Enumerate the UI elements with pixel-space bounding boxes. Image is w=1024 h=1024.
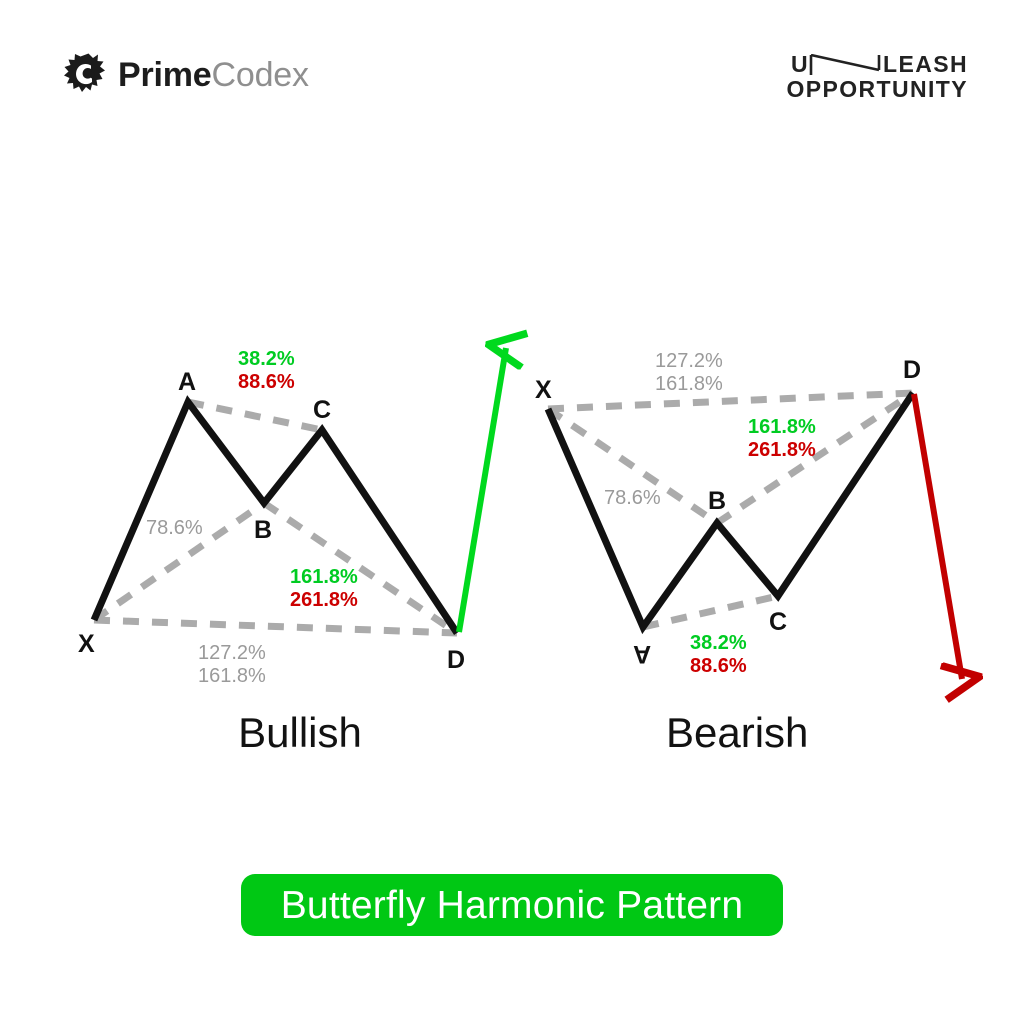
bullish-xd-ratio-value-2: 161.8%: [198, 665, 266, 688]
bullish-bd-ratio: 161.8% 261.8%: [290, 566, 358, 612]
bearish-xd-retracement: [548, 393, 913, 409]
bearish-vertex-label-d: D: [903, 358, 921, 383]
primecodex-logo: PrimeCodex: [62, 52, 309, 98]
bullish-xb-ratio: 78.6%: [146, 517, 203, 540]
stylized-n-stroke-icon: [809, 54, 883, 76]
bearish-vertex-label-x: X: [535, 378, 552, 403]
butterfly-harmonic-pattern-infographic: PrimeCodex U LEASH OPPORTUNITY: [0, 0, 1024, 1024]
bullish-projection-arrow: [459, 348, 506, 632]
bullish-vertex-label-a: A: [178, 370, 196, 395]
bearish-ac-retracement: [643, 596, 778, 627]
bullish-xb-ratio-value: 78.6%: [146, 517, 203, 540]
bullish-xd-retracement: [94, 620, 457, 633]
bearish-ac-ratio-red: 88.6%: [690, 655, 747, 678]
bearish-bd-ratio-green: 161.8%: [748, 416, 816, 439]
bearish-vertex-label-b: B: [708, 489, 726, 514]
bearish-xd-ratio: 127.2% 161.8%: [655, 350, 723, 396]
bearish-vertex-label-c: C: [769, 610, 787, 635]
bullish-caption: Bullish: [234, 712, 366, 754]
bullish-ac-ratio-red: 88.6%: [238, 371, 295, 394]
primecodex-c-mark-icon: [62, 52, 106, 98]
bullish-vertex-label-d: D: [447, 648, 465, 673]
bearish-bd-ratio-red: 261.8%: [748, 439, 816, 462]
bearish-ac-ratio-green: 38.2%: [690, 632, 747, 655]
bearish-projection-arrow: [914, 394, 962, 679]
title-banner: Butterfly Harmonic Pattern: [241, 874, 783, 936]
bearish-xd-ratio-value-2: 161.8%: [655, 373, 723, 396]
bullish-xd-ratio-value-1: 127.2%: [198, 642, 266, 665]
tagline-line-1: U LEASH: [786, 52, 968, 77]
bullish-ac-retracement: [188, 402, 322, 430]
bearish-vertex-label-a: A: [633, 641, 651, 666]
bullish-ac-ratio-green: 38.2%: [238, 348, 295, 371]
tagline-leash: LEASH: [883, 52, 968, 77]
title-banner-text: Butterfly Harmonic Pattern: [281, 886, 744, 925]
harmonic-pattern-diagrams: [0, 0, 1024, 1024]
brand-name-prime: Prime: [118, 56, 212, 94]
tagline-line-2: OPPORTUNITY: [786, 77, 968, 102]
primecodex-wordmark: PrimeCodex: [118, 58, 309, 92]
bearish-bd-ratio: 161.8% 261.8%: [748, 416, 816, 462]
bullish-bd-ratio-green: 161.8%: [290, 566, 358, 589]
bearish-ac-ratio: 38.2% 88.6%: [690, 632, 747, 678]
bullish-vertex-label-x: X: [78, 632, 95, 657]
brand-name-codex: Codex: [212, 56, 309, 94]
bullish-xd-ratio: 127.2% 161.8%: [198, 642, 266, 688]
bullish-ac-ratio: 38.2% 88.6%: [238, 348, 295, 394]
tagline-u: U: [791, 52, 809, 77]
bearish-retracement-lines: [548, 393, 913, 627]
unleash-opportunity-tagline: U LEASH OPPORTUNITY: [786, 52, 968, 102]
bearish-price-structure: [548, 393, 913, 627]
bullish-vertex-label-c: C: [313, 398, 331, 423]
bearish-xb-ratio-value: 78.6%: [604, 487, 661, 510]
bullish-vertex-label-b: B: [254, 518, 272, 543]
bearish-caption: Bearish: [666, 712, 798, 754]
bearish-xd-ratio-value-1: 127.2%: [655, 350, 723, 373]
bearish-xb-ratio: 78.6%: [604, 487, 661, 510]
bullish-bd-ratio-red: 261.8%: [290, 589, 358, 612]
